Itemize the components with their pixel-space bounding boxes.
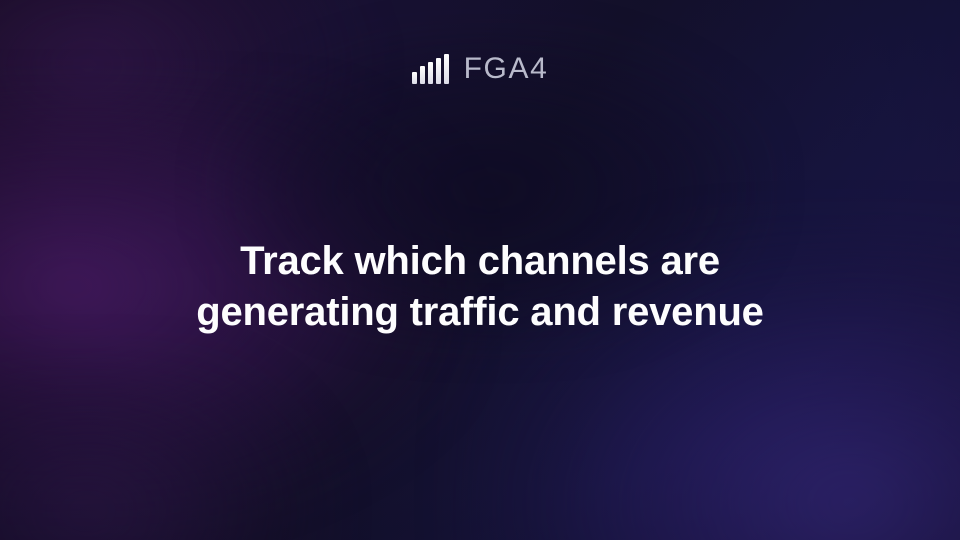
slide-root: FGA4 Track which channels are generating… <box>0 0 960 540</box>
brand-name: FGA4 <box>464 54 549 84</box>
headline-line-2: generating traffic and revenue <box>60 287 900 338</box>
bar-chart-bar-1 <box>412 72 417 84</box>
bar-chart-bar-5 <box>444 54 449 84</box>
slide-content: FGA4 Track which channels are generating… <box>0 0 960 540</box>
bar-chart-bar-4 <box>436 58 441 84</box>
bar-chart-icon <box>412 54 449 84</box>
bar-chart-bar-2 <box>420 66 425 84</box>
bar-chart-bar-3 <box>428 62 433 84</box>
headline-line-1: Track which channels are <box>60 236 900 287</box>
headline: Track which channels are generating traf… <box>0 236 960 338</box>
brand-lockup: FGA4 <box>0 48 960 90</box>
